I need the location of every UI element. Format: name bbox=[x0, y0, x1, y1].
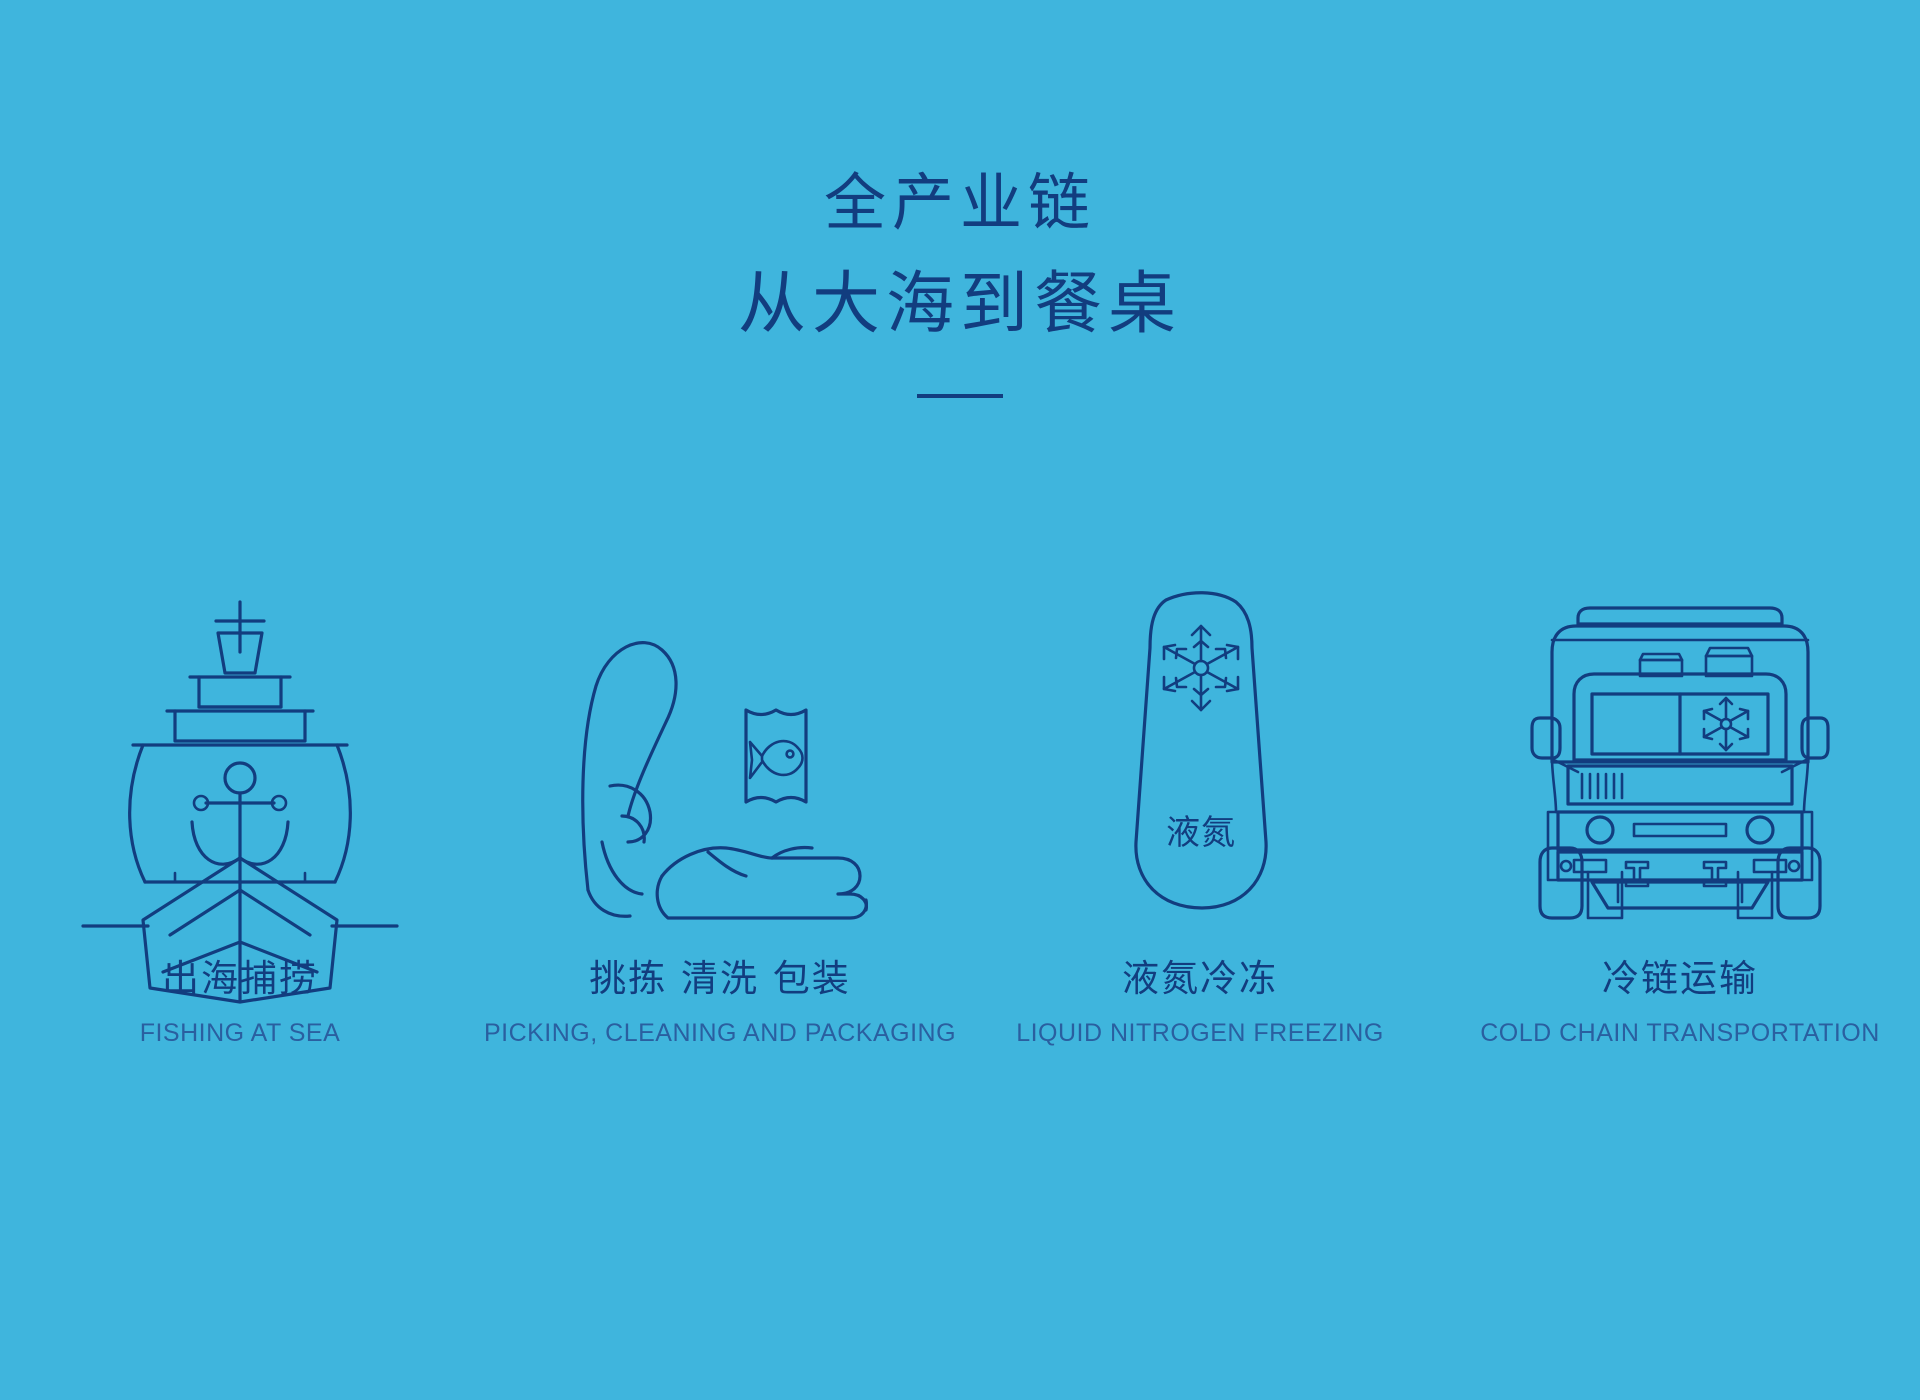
header: 全产业链 从大海到餐桌 bbox=[0, 0, 1920, 398]
divider-wrap bbox=[0, 394, 1920, 398]
step-labels: 液氮冷冻 LIQUID NITROGEN FREEZING bbox=[960, 956, 1440, 1048]
icon-container: 液氮 bbox=[960, 520, 1440, 920]
step-label-cn: 液氮冷冻 bbox=[960, 956, 1440, 1002]
grille-slats bbox=[1582, 774, 1622, 798]
process-step-packaging: 挑拣 清洗 包装 PICKING, CLEANING AND PACKAGING bbox=[480, 520, 960, 1048]
step-label-cn: 挑拣 清洗 包装 bbox=[480, 956, 960, 1002]
process-step-transport: 冷链运输 COLD CHAIN TRANSPORTATION bbox=[1440, 520, 1920, 1048]
step-label-cn: 冷链运输 bbox=[1440, 956, 1920, 1002]
refrigerated-truck-icon bbox=[1530, 590, 1830, 920]
snowflake-icon bbox=[1164, 626, 1238, 710]
step-label-en: COLD CHAIN TRANSPORTATION bbox=[1440, 1018, 1920, 1048]
fishing-boat-icon bbox=[75, 590, 405, 920]
icon-container bbox=[480, 520, 960, 920]
process-step-fishing: 出海捕捞 FISHING AT SEA bbox=[0, 520, 480, 1048]
step-labels: 出海捕捞 FISHING AT SEA bbox=[0, 956, 480, 1048]
step-label-cn: 出海捕捞 bbox=[0, 956, 480, 1002]
liquid-nitrogen-tank-icon: 液氮 bbox=[1090, 590, 1310, 920]
step-label-en: PICKING, CLEANING AND PACKAGING bbox=[480, 1018, 960, 1048]
process-step-freezing: 液氮 液氮冷冻 LIQUID NITROGEN FREEZING bbox=[960, 520, 1440, 1048]
step-labels: 冷链运输 COLD CHAIN TRANSPORTATION bbox=[1440, 956, 1920, 1048]
title-divider-rule bbox=[917, 394, 1003, 398]
icon-container bbox=[0, 520, 480, 920]
tank-label: 液氮 bbox=[1166, 813, 1236, 853]
infographic-page: 全产业链 从大海到餐桌 bbox=[0, 0, 1920, 1400]
hands-sorting-packaging-icon bbox=[550, 590, 890, 920]
icon-container bbox=[1440, 520, 1920, 920]
step-label-en: LIQUID NITROGEN FREEZING bbox=[960, 1018, 1440, 1048]
page-title-primary: 全产业链 bbox=[0, 170, 1920, 235]
page-title-secondary: 从大海到餐桌 bbox=[0, 269, 1920, 340]
step-labels: 挑拣 清洗 包装 PICKING, CLEANING AND PACKAGING bbox=[480, 956, 960, 1048]
process-step-list: 出海捕捞 FISHING AT SEA bbox=[0, 520, 1920, 1048]
step-label-en: FISHING AT SEA bbox=[0, 1018, 480, 1048]
snowflake-icon bbox=[1704, 698, 1748, 750]
